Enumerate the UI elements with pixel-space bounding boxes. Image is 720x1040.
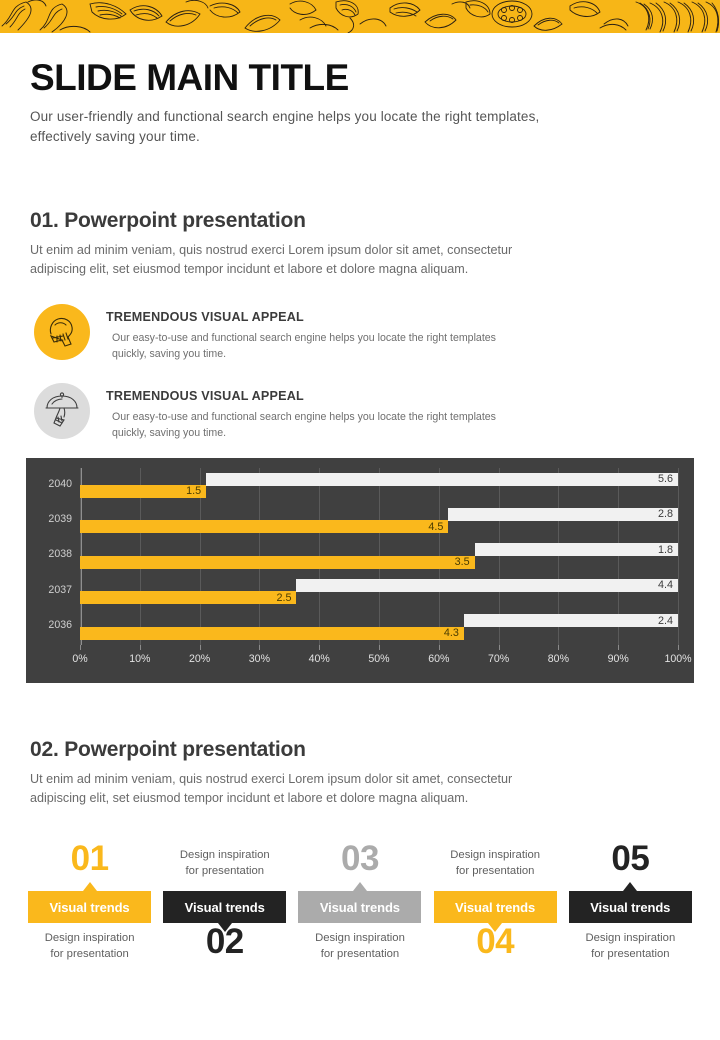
chart-bar-row: 1.8 <box>80 543 678 556</box>
chart-bar-value: 1.8 <box>658 544 678 556</box>
timeline-step-number: 03 <box>292 841 427 876</box>
chart-category-label: 2036 <box>48 619 72 631</box>
chart-bar-row: 2.8 <box>80 508 678 521</box>
timeline-caption-line-1: Design inspiration <box>22 930 157 946</box>
chart-bar-group: 20405.61.5 <box>80 468 678 503</box>
chart-x-tick-label: 10% <box>129 653 150 665</box>
subtitle-line-1: Our user-friendly and functional search … <box>30 107 690 127</box>
feature-desc-2-line-2: quickly, saving you time. <box>112 426 496 442</box>
timeline-step-arrow-up <box>353 882 367 891</box>
stacked-bar-chart: 20405.61.520392.84.520381.83.520374.42.5… <box>26 458 694 683</box>
page-title: SLIDE MAIN TITLE <box>30 57 690 98</box>
section-01-heading: 01. Powerpoint presentation <box>30 209 692 233</box>
chart-x-tick <box>140 645 141 650</box>
feature-item-1[interactable]: TREMENDOUS VISUAL APPEAL Our easy-to-use… <box>34 300 674 363</box>
chart-x-axis: 0%10%20%30%40%50%60%70%80%90%100% <box>80 645 678 677</box>
chart-bar-value: 2.4 <box>658 615 678 627</box>
chart-x-tick <box>678 645 679 650</box>
header-banner <box>0 0 720 33</box>
chart-x-tick-label: 30% <box>249 653 270 665</box>
timeline-step-02[interactable]: 02Design inspirationfor presentationVisu… <box>157 835 292 990</box>
chart-bar-row: 1.5 <box>80 485 678 498</box>
timeline-step-caption: Design inspirationfor presentation <box>563 930 698 962</box>
timeline-step-arrow-down <box>218 923 232 932</box>
timeline-step-05[interactable]: 05Design inspirationfor presentationVisu… <box>563 835 698 990</box>
chart-x-tick-label: 70% <box>488 653 509 665</box>
feature-desc-1: Our easy-to-use and functional search en… <box>112 331 496 363</box>
chart-bar-value: 1.5 <box>186 485 206 497</box>
chart-bar-yellow: 1.5 <box>80 485 206 498</box>
chart-bar-row: 4.3 <box>80 627 678 640</box>
timeline-step-box-label: Visual trends <box>590 900 670 915</box>
timeline-caption-line-2: for presentation <box>563 946 698 962</box>
chart-category-label: 2040 <box>48 478 72 490</box>
timeline-step-box-label: Visual trends <box>49 900 129 915</box>
chart-bar-yellow: 4.5 <box>80 520 448 533</box>
chart-bar-white: 2.4 <box>464 614 678 627</box>
chart-x-tick-label: 20% <box>189 653 210 665</box>
chart-bar-white: 1.8 <box>475 543 678 556</box>
chart-bar-value: 2.8 <box>658 508 678 520</box>
chart-bar-row: 5.6 <box>80 473 678 486</box>
section-02-body: Ut enim ad minim veniam, quis nostrud ex… <box>30 770 692 808</box>
timeline-caption-line-2: for presentation <box>22 946 157 962</box>
chart-x-tick <box>200 645 201 650</box>
hand-glove-icon <box>44 314 80 350</box>
chart-x-tick <box>319 645 320 650</box>
chart-gridline <box>678 468 679 645</box>
feature-desc-2: Our easy-to-use and functional search en… <box>112 410 496 442</box>
timeline-step-caption: Design inspirationfor presentation <box>428 847 563 879</box>
chart-bar-yellow: 4.3 <box>80 627 464 640</box>
timeline-step-caption: Design inspirationfor presentation <box>22 930 157 962</box>
timeline-step-number: 05 <box>563 841 698 876</box>
chart-x-tick <box>379 645 380 650</box>
chart-bar-value: 2.5 <box>276 592 296 604</box>
chart-x-tick-label: 60% <box>428 653 449 665</box>
chart-category-label: 2037 <box>48 584 72 596</box>
feature-desc-2-line-1: Our easy-to-use and functional search en… <box>112 410 496 426</box>
chart-x-tick-label: 80% <box>548 653 569 665</box>
chart-bar-group: 20362.44.3 <box>80 610 678 645</box>
timeline-caption-line-2: for presentation <box>292 946 427 962</box>
timeline-caption-line-2: for presentation <box>428 863 563 879</box>
section-01-body-line-2: adipiscing elit, set eiusmod tempor inci… <box>30 260 692 279</box>
chart-x-tick <box>80 645 81 650</box>
feature-item-2[interactable]: TREMENDOUS VISUAL APPEAL Our easy-to-use… <box>34 379 674 442</box>
timeline-caption-line-1: Design inspiration <box>157 847 292 863</box>
timeline-step-01[interactable]: 01Design inspirationfor presentationVisu… <box>22 835 157 990</box>
subtitle-line-2: effectively saving your time. <box>30 127 690 147</box>
timeline-caption-line-1: Design inspiration <box>428 847 563 863</box>
chart-bar-value: 4.3 <box>444 627 464 639</box>
feature-icon-circle-1 <box>34 304 90 360</box>
feature-text-2: TREMENDOUS VISUAL APPEAL Our easy-to-use… <box>106 379 496 442</box>
timeline-step-arrow-up <box>623 882 637 891</box>
chart-bar-row: 2.5 <box>80 591 678 604</box>
section-02: 02. Powerpoint presentation Ut enim ad m… <box>30 738 692 808</box>
chart-bar-value: 3.5 <box>455 556 475 568</box>
chart-x-tick-label: 0% <box>72 653 87 665</box>
timeline-step-box[interactable]: Visual trends <box>298 891 421 923</box>
timeline-step-03[interactable]: 03Design inspirationfor presentationVisu… <box>292 835 427 990</box>
section-02-body-line-1: Ut enim ad minim veniam, quis nostrud ex… <box>30 770 692 789</box>
chart-x-tick <box>558 645 559 650</box>
feature-text-1: TREMENDOUS VISUAL APPEAL Our easy-to-use… <box>106 300 496 363</box>
feature-desc-1-line-1: Our easy-to-use and functional search en… <box>112 331 496 347</box>
title-block: SLIDE MAIN TITLE Our user-friendly and f… <box>30 57 690 147</box>
timeline-steps: 01Design inspirationfor presentationVisu… <box>22 835 698 990</box>
timeline-step-caption: Design inspirationfor presentation <box>292 930 427 962</box>
feature-heading-1: TREMENDOUS VISUAL APPEAL <box>106 310 496 324</box>
timeline-step-box-label: Visual trends <box>320 900 400 915</box>
timeline-step-04[interactable]: 04Design inspirationfor presentationVisu… <box>428 835 563 990</box>
feature-heading-2: TREMENDOUS VISUAL APPEAL <box>106 389 496 403</box>
chart-x-tick-label: 50% <box>368 653 389 665</box>
chart-bar-value: 4.5 <box>428 521 448 533</box>
chart-bar-white: 4.4 <box>296 579 678 592</box>
timeline-step-arrow-down <box>488 923 502 932</box>
timeline-step-number: 01 <box>22 841 157 876</box>
chart-x-tick-label: 100% <box>664 653 691 665</box>
chart-bar-value: 5.6 <box>658 473 678 485</box>
chart-bar-row: 2.4 <box>80 614 678 627</box>
chart-x-tick <box>499 645 500 650</box>
serving-dome-hand-icon <box>43 392 81 430</box>
timeline-caption-line-1: Design inspiration <box>292 930 427 946</box>
section-01-body-line-1: Ut enim ad minim veniam, quis nostrud ex… <box>30 241 692 260</box>
chart-bar-row: 3.5 <box>80 556 678 569</box>
chart-plot-area: 20405.61.520392.84.520381.83.520374.42.5… <box>80 468 678 645</box>
chart-bar-yellow: 2.5 <box>80 591 296 604</box>
timeline-step-caption: Design inspirationfor presentation <box>157 847 292 879</box>
chart-bar-row: 4.5 <box>80 520 678 533</box>
timeline-step-box[interactable]: Visual trends <box>434 891 557 923</box>
timeline-step-box-label: Visual trends <box>185 900 265 915</box>
section-01: 01. Powerpoint presentation Ut enim ad m… <box>30 209 692 279</box>
section-02-heading: 02. Powerpoint presentation <box>30 738 692 762</box>
chart-bar-group: 20392.84.5 <box>80 503 678 538</box>
chart-bar-white: 2.8 <box>448 508 678 521</box>
feature-desc-1-line-2: quickly, saving you time. <box>112 347 496 363</box>
feature-icon-circle-2 <box>34 383 90 439</box>
chart-bar-row: 4.4 <box>80 579 678 592</box>
chart-x-tick-label: 90% <box>608 653 629 665</box>
chart-x-tick <box>439 645 440 650</box>
chart-bar-white: 5.6 <box>206 473 678 486</box>
timeline-step-arrow-up <box>83 882 97 891</box>
timeline-step-box[interactable]: Visual trends <box>569 891 692 923</box>
section-02-body-line-2: adipiscing elit, set eiusmod tempor inci… <box>30 789 692 808</box>
chart-category-label: 2038 <box>48 548 72 560</box>
chart-bar-value: 4.4 <box>658 579 678 591</box>
chart-bar-group: 20374.42.5 <box>80 574 678 609</box>
feature-list: TREMENDOUS VISUAL APPEAL Our easy-to-use… <box>34 300 674 458</box>
page-subtitle: Our user-friendly and functional search … <box>30 107 690 147</box>
section-01-body: Ut enim ad minim veniam, quis nostrud ex… <box>30 241 692 279</box>
timeline-caption-line-2: for presentation <box>157 863 292 879</box>
timeline-step-box-label: Visual trends <box>455 900 535 915</box>
timeline-caption-line-1: Design inspiration <box>563 930 698 946</box>
chart-x-tick <box>618 645 619 650</box>
chart-bar-yellow: 3.5 <box>80 556 475 569</box>
chart-x-tick <box>259 645 260 650</box>
botanical-food-sketch-pattern-icon <box>0 0 720 33</box>
slide-canvas: SLIDE MAIN TITLE Our user-friendly and f… <box>0 0 720 1040</box>
chart-category-label: 2039 <box>48 513 72 525</box>
chart-x-tick-label: 40% <box>309 653 330 665</box>
timeline-step-box[interactable]: Visual trends <box>163 891 286 923</box>
timeline-step-box[interactable]: Visual trends <box>28 891 151 923</box>
chart-bar-group: 20381.83.5 <box>80 539 678 574</box>
